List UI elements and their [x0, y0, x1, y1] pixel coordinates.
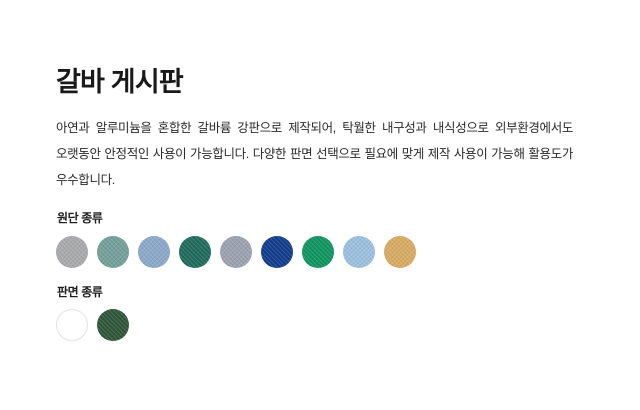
swatch-sky-blue[interactable] — [343, 236, 375, 268]
product-detail-card: 갈바 게시판 아연과 알루미늄을 혼합한 갈바륨 강판으로 제작되어, 탁월한 … — [0, 0, 640, 410]
page-title: 갈바 게시판 — [56, 66, 588, 98]
swatch-white[interactable] — [56, 309, 88, 341]
swatch-tan-gold[interactable] — [384, 236, 416, 268]
swatch-navy-blue[interactable] — [261, 236, 293, 268]
option-group-fabric: 원단 종류 — [56, 211, 588, 268]
swatch-steel-blue[interactable] — [138, 236, 170, 268]
option-label-fabric: 원단 종류 — [57, 211, 588, 227]
swatch-forest-green[interactable] — [97, 309, 129, 341]
swatch-pine-green[interactable] — [179, 236, 211, 268]
option-label-panel: 판면 종류 — [57, 285, 588, 301]
option-group-panel: 판면 종류 — [56, 285, 588, 342]
swatch-emerald-green[interactable] — [302, 236, 334, 268]
swatch-row-panel — [56, 309, 588, 341]
swatch-blue-gray[interactable] — [220, 236, 252, 268]
product-description: 아연과 알루미늄을 혼합한 갈바륨 강판으로 제작되어, 탁월한 내구성과 내식… — [56, 116, 573, 193]
swatch-gray[interactable] — [56, 236, 88, 268]
swatch-sage-teal[interactable] — [97, 236, 129, 268]
swatch-row-fabric — [56, 236, 588, 268]
